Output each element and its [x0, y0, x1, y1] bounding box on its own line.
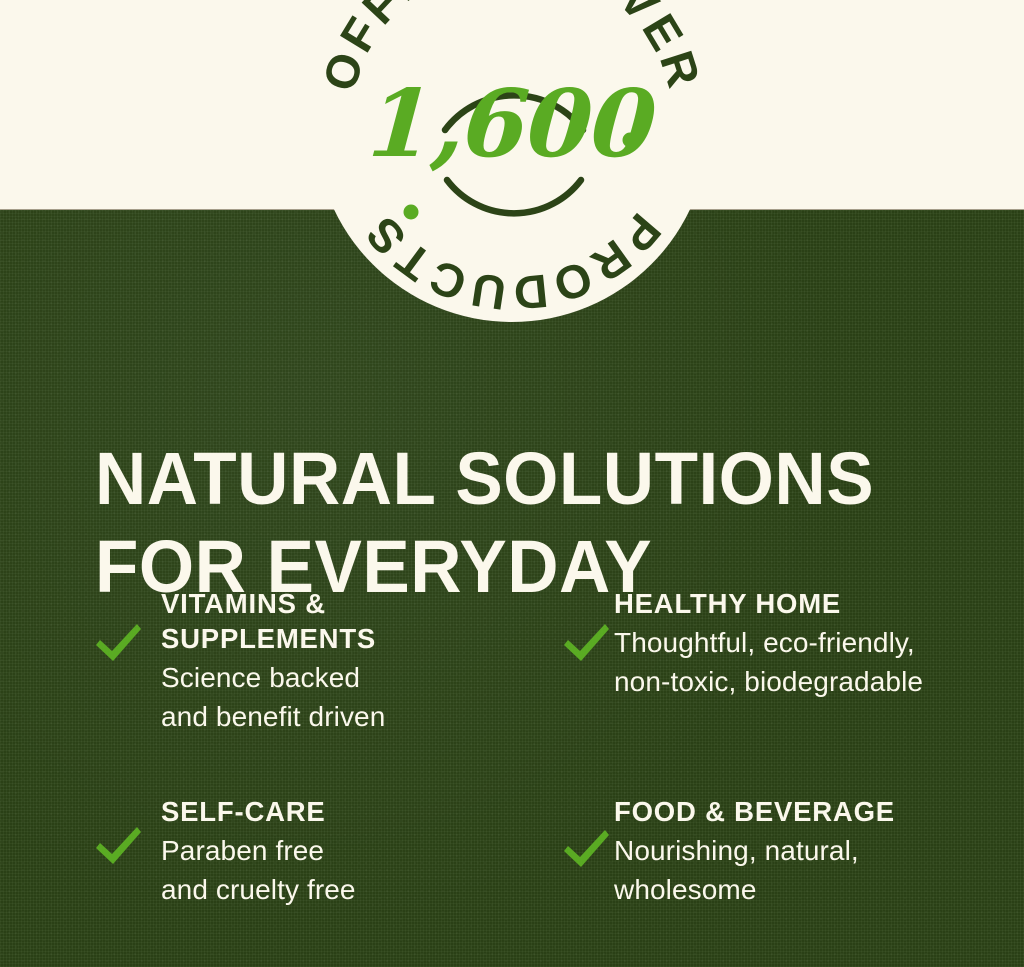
benefit-text: VITAMINS & SUPPLEMENTS Science backed an…: [161, 586, 385, 736]
badge-number: 1,600: [365, 69, 659, 178]
benefit-desc-line-1: Science backed: [161, 658, 385, 697]
badge-number-wrap: 1,600: [315, 0, 709, 322]
benefit-desc-line-2: and benefit driven: [161, 697, 385, 736]
benefit-desc-line-1: Nourishing, natural,: [614, 831, 895, 870]
benefit-desc-line-1: Thoughtful, eco-friendly,: [614, 623, 923, 662]
benefit-title: HEALTHY HOME: [614, 586, 923, 621]
benefit-description: Paraben free and cruelty free: [161, 831, 356, 909]
benefit-text: SELF-CARE Paraben free and cruelty free: [161, 794, 356, 909]
benefit-title: VITAMINS & SUPPLEMENTS: [161, 586, 385, 656]
check-icon: [560, 824, 612, 876]
benefit-description: Nourishing, natural, wholesome: [614, 831, 895, 909]
benefit-desc-line-1: Paraben free: [161, 831, 356, 870]
headline-line-1: NATURAL SOLUTIONS: [95, 437, 874, 520]
benefit-desc-line-2: wholesome: [614, 870, 895, 909]
benefit-item-food-beverage: FOOD & BEVERAGE Nourishing, natural, who…: [548, 794, 1024, 909]
benefit-desc-line-2: and cruelty free: [161, 870, 356, 909]
benefit-title-line-1: FOOD & BEVERAGE: [614, 796, 895, 827]
check-icon: [92, 618, 144, 670]
benefit-description: Science backed and benefit driven: [161, 658, 385, 736]
benefit-item-self-care: SELF-CARE Paraben free and cruelty free: [0, 794, 512, 909]
check-icon: [92, 821, 144, 873]
benefits-grid: VITAMINS & SUPPLEMENTS Science backed an…: [0, 586, 1024, 909]
benefit-desc-line-2: non-toxic, biodegradable: [614, 662, 923, 701]
benefit-title-line-1: VITAMINS &: [161, 588, 326, 619]
benefit-title: FOOD & BEVERAGE: [614, 794, 895, 829]
promo-banner: OFFERING OVER PRODUCTS 1,600 NATURAL SOL…: [0, 0, 1024, 967]
benefit-title-line-1: HEALTHY HOME: [614, 588, 841, 619]
benefit-item-healthy-home: HEALTHY HOME Thoughtful, eco-friendly, n…: [548, 586, 1024, 736]
benefit-text: HEALTHY HOME Thoughtful, eco-friendly, n…: [614, 586, 923, 701]
benefit-description: Thoughtful, eco-friendly, non-toxic, bio…: [614, 623, 923, 701]
benefit-title-line-1: SELF-CARE: [161, 796, 326, 827]
benefit-title: SELF-CARE: [161, 794, 356, 829]
benefit-title-line-2: SUPPLEMENTS: [161, 623, 376, 654]
check-icon: [560, 618, 612, 670]
page-title: NATURAL SOLUTIONS FOR EVERYDAY: [95, 435, 940, 611]
benefit-item-vitamins-supplements: VITAMINS & SUPPLEMENTS Science backed an…: [0, 586, 512, 736]
benefit-text: FOOD & BEVERAGE Nourishing, natural, who…: [614, 794, 895, 909]
